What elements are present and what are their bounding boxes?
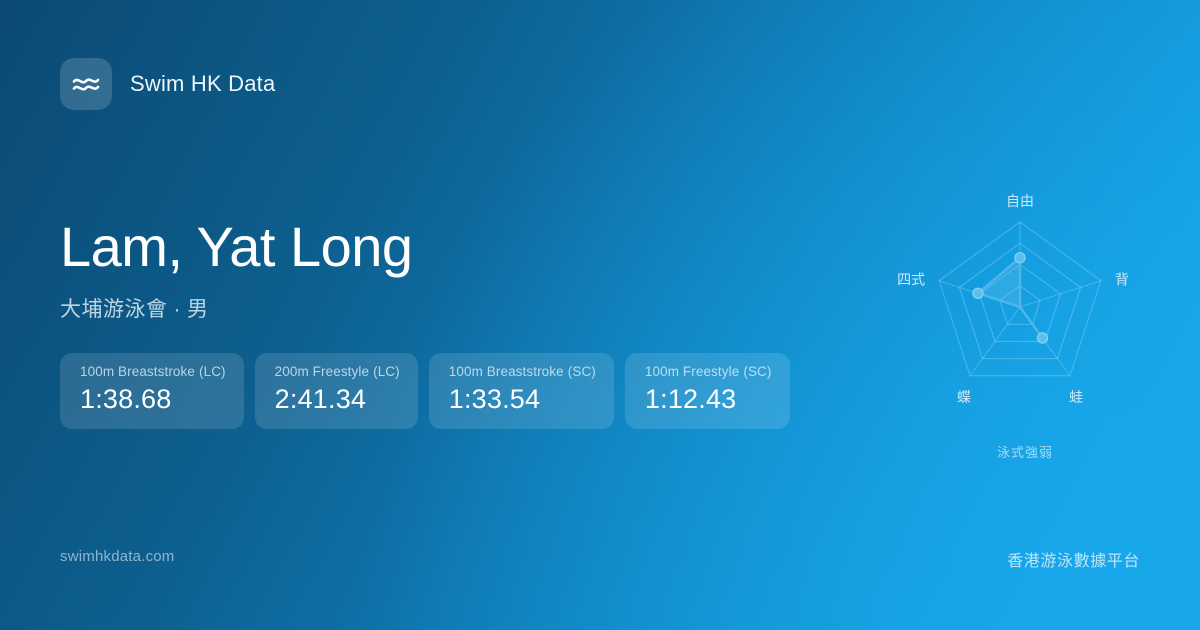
stat-card-label: 100m Freestyle(SC) — [645, 364, 772, 379]
radar-data-area — [978, 258, 1043, 338]
radar-caption: 泳式強弱 — [865, 442, 1185, 461]
stat-card[interactable]: 100m Breaststroke(SC) 1:33.54 — [429, 353, 614, 429]
stat-event-name: 200m Freestyle — [275, 364, 369, 379]
stat-time-value: 2:41.34 — [275, 384, 400, 415]
stat-time-value: 1:38.68 — [80, 384, 226, 415]
footer-site-url[interactable]: swimhkdata.com — [60, 548, 175, 565]
footer-tagline: 香港游泳數據平台 — [1007, 547, 1140, 571]
stroke-strength-radar-chart: 自由背蛙蝶四式 泳式強弱 — [865, 170, 1185, 470]
stat-time-value: 1:33.54 — [449, 384, 596, 415]
athlete-club: 大埔游泳會 — [60, 298, 168, 321]
stat-event-name: 100m Breaststroke — [449, 364, 564, 379]
radar-axis-label: 蝶 — [957, 389, 971, 405]
page-title: Lam, Yat Long — [60, 218, 413, 277]
radar-data-point — [1015, 253, 1025, 263]
radar-axis-label: 背 — [1115, 272, 1129, 288]
stat-course-tag: (SC) — [739, 364, 771, 379]
stat-card[interactable]: 100m Freestyle(SC) 1:12.43 — [625, 353, 790, 429]
wave-approx-icon — [71, 73, 101, 95]
stat-card[interactable]: 100m Breaststroke(LC) 1:38.68 — [60, 353, 244, 429]
stat-card[interactable]: 200m Freestyle(LC) 2:41.34 — [255, 353, 418, 429]
radar-axis-spoke — [1020, 281, 1101, 307]
stat-course-tag: (SC) — [564, 364, 596, 379]
radar-data-point — [973, 288, 983, 298]
radar-data-point — [1037, 333, 1047, 343]
radar-axis-label: 四式 — [897, 272, 925, 288]
stat-card-label: 100m Breaststroke(LC) — [80, 364, 226, 379]
stat-time-value: 1:12.43 — [645, 384, 772, 415]
stat-course-tag: (LC) — [369, 364, 400, 379]
athlete-hero: Lam, Yat Long 大埔游泳會·男 — [60, 218, 413, 323]
radar-axis-label: 蛙 — [1069, 389, 1083, 405]
meta-separator: · — [168, 298, 188, 321]
radar-axis-label: 自由 — [1006, 193, 1034, 209]
stat-event-name: 100m Freestyle — [645, 364, 739, 379]
stat-event-name: 100m Breaststroke — [80, 364, 195, 379]
stat-card-label: 100m Breaststroke(SC) — [449, 364, 596, 379]
brand-header[interactable]: Swim HK Data — [60, 58, 275, 110]
stat-card-label: 200m Freestyle(LC) — [275, 364, 400, 379]
brand-name: Swim HK Data — [130, 71, 275, 97]
stat-card-list: 100m Breaststroke(LC) 1:38.68 200m Frees… — [60, 353, 790, 429]
app-logo — [60, 58, 112, 110]
athlete-gender: 男 — [187, 298, 209, 321]
athlete-meta: 大埔游泳會·男 — [60, 293, 413, 323]
stat-course-tag: (LC) — [195, 364, 226, 379]
